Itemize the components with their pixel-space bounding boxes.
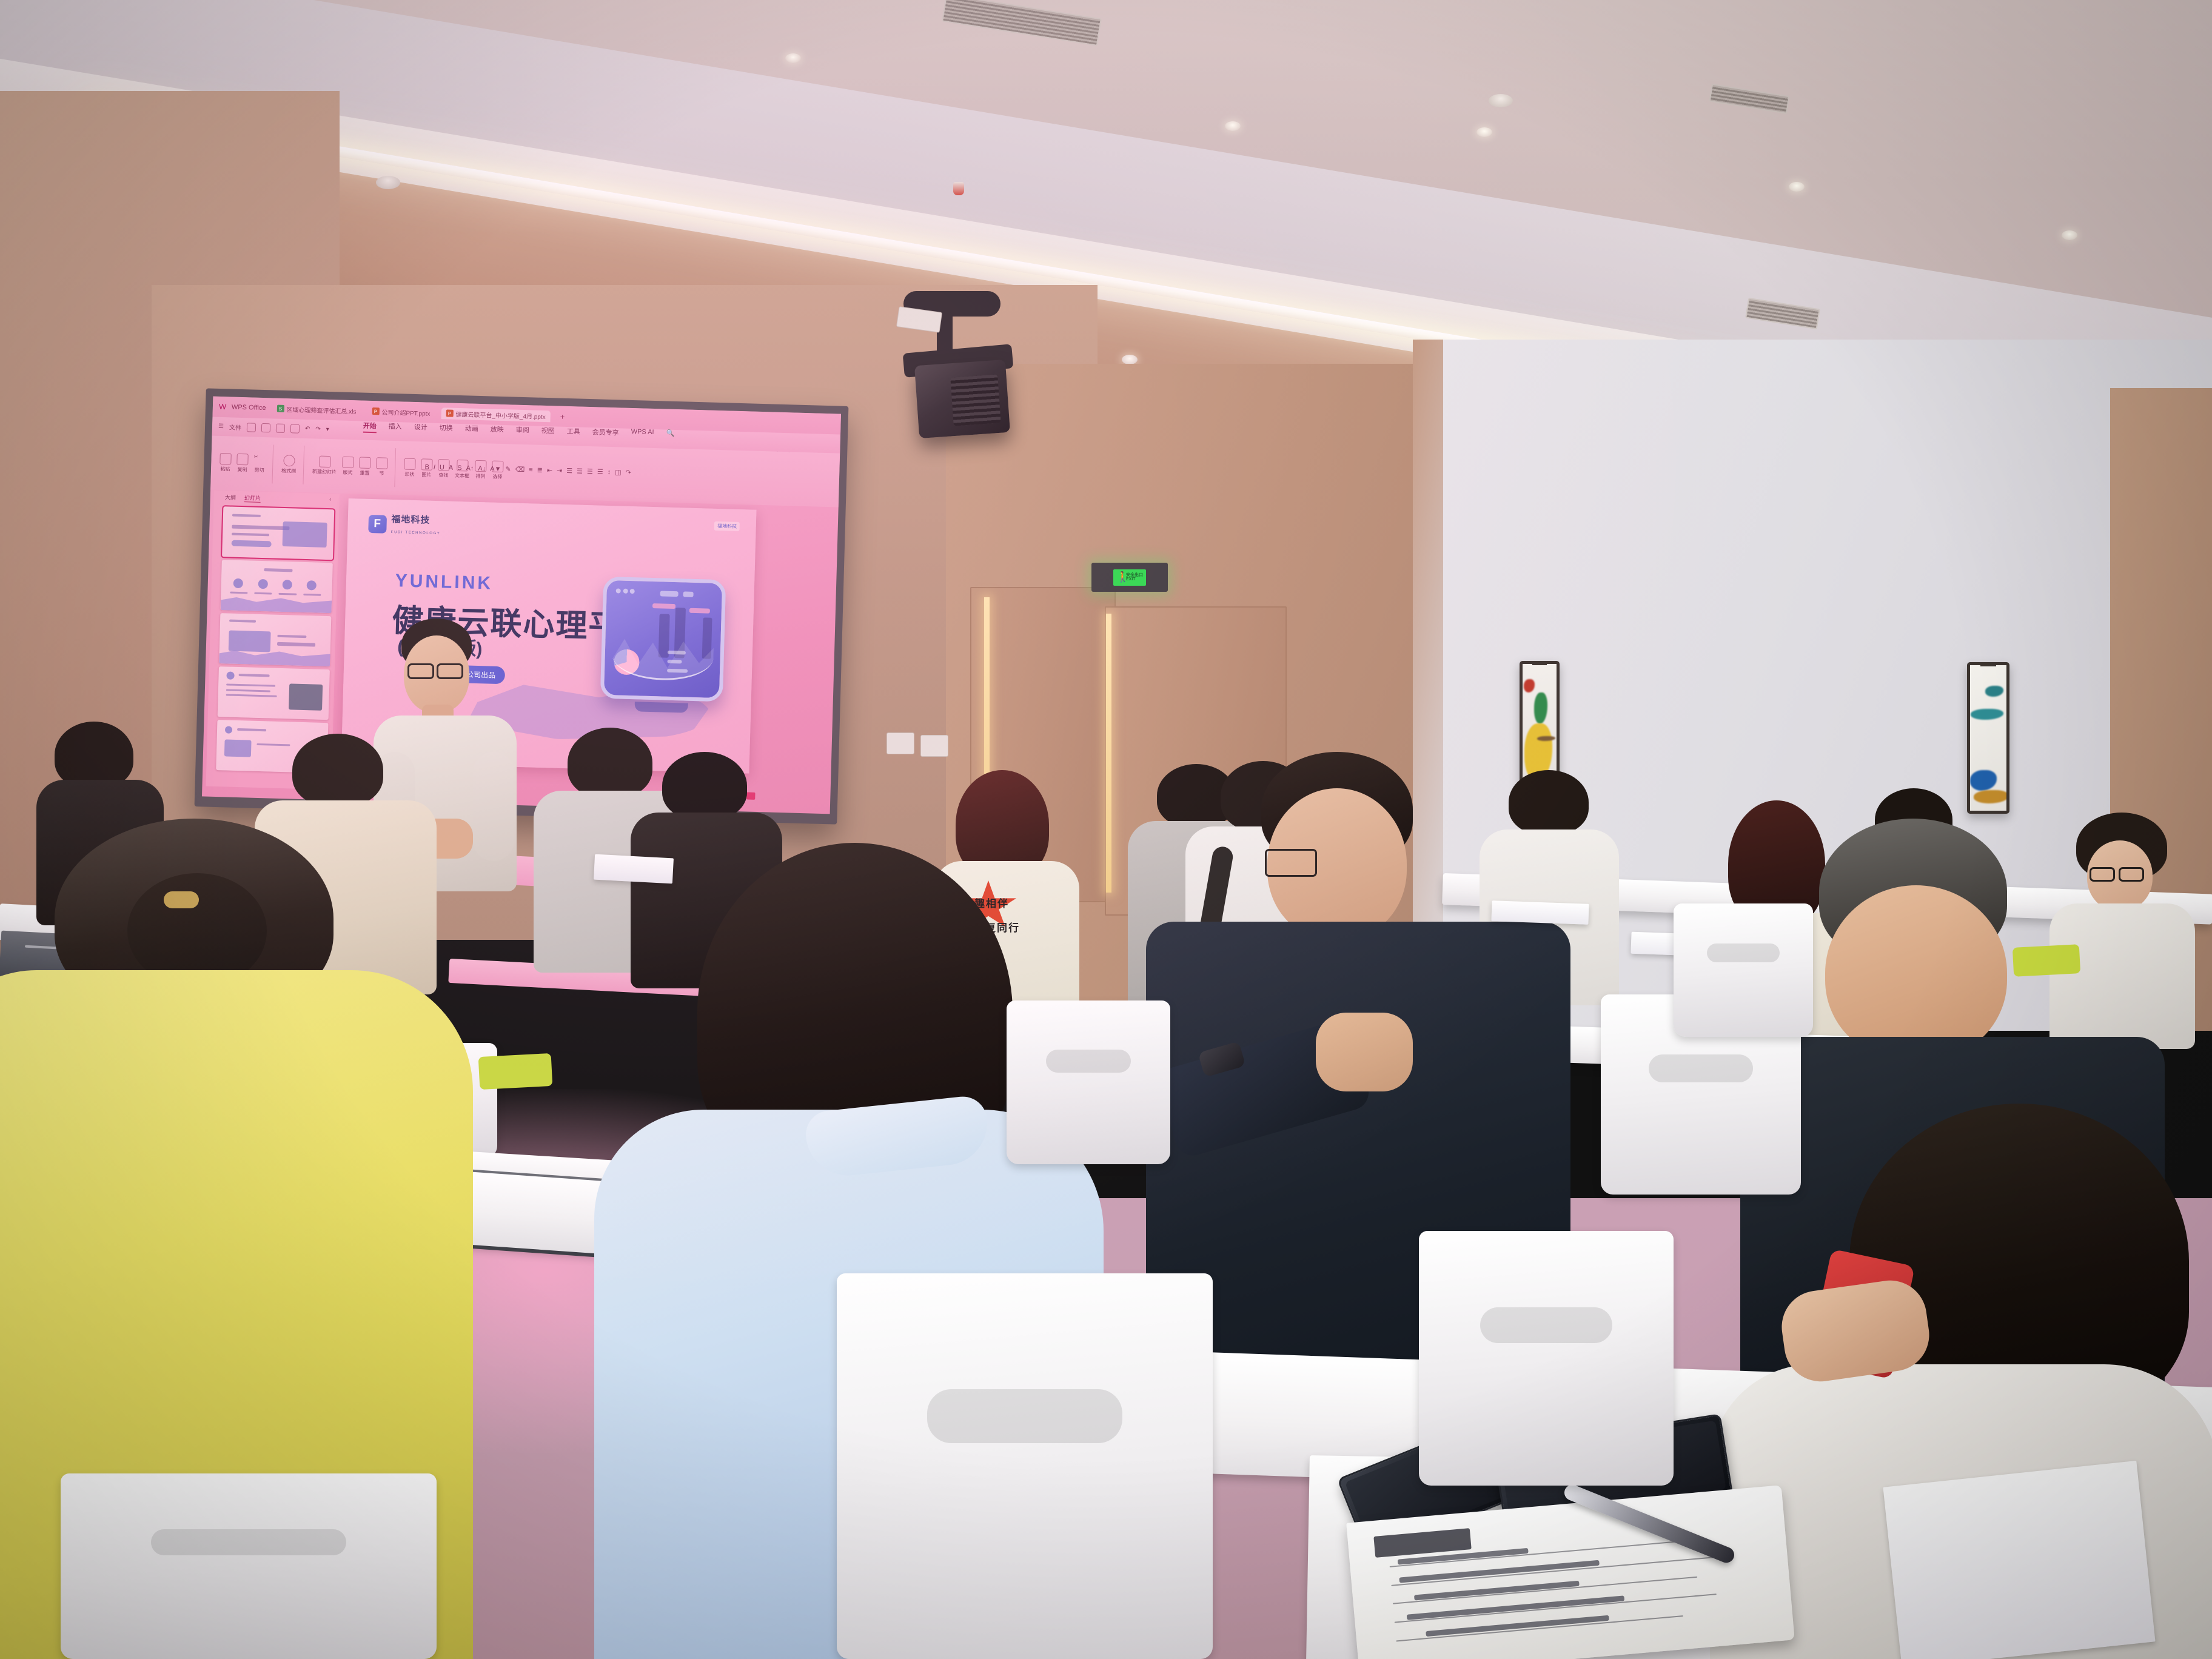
eyeglasses-icon — [407, 663, 434, 679]
slide-corner-watermark: 福地科技 — [714, 521, 740, 531]
text-direction-icon[interactable]: ↷ — [625, 469, 631, 477]
paste-icon — [220, 453, 232, 465]
arrange-label: 排列 — [475, 473, 485, 480]
find-label: 查找 — [438, 472, 448, 478]
chair-backrest — [837, 1273, 1213, 1659]
art-hanger — [1980, 662, 1996, 666]
wps-document-tab-1[interactable]: S 区域心理筛查评估汇总.xls — [272, 403, 361, 417]
shapes-label: 形状 — [404, 471, 414, 478]
wps-tab-label: 区域心理筛查评估汇总.xls — [286, 404, 356, 415]
ribbon-tab-member[interactable]: 会员专享 — [592, 427, 619, 440]
head — [1825, 885, 2007, 1061]
shapes-icon — [404, 458, 416, 471]
line-spacing-icon[interactable]: ↕ — [608, 469, 611, 476]
wps-tab-label: 公司介绍PPT.pptx — [381, 407, 430, 417]
new-tab-button[interactable]: + — [557, 412, 569, 421]
redo-icon[interactable]: ↷ — [315, 426, 321, 432]
slide-eyebrow-text: YUNLINK — [395, 571, 493, 594]
save-icon[interactable] — [247, 423, 256, 432]
exit-sign-label-en: EXIT — [1126, 577, 1143, 581]
presentation-icon: P — [372, 407, 379, 415]
recessed-downlight — [1789, 182, 1805, 192]
chair-front-center[interactable] — [837, 1273, 1213, 1659]
hvac-vent — [942, 0, 1102, 46]
new-slide-button[interactable]: 新建幻灯片 — [312, 455, 337, 475]
handwritten-note-line — [1426, 1615, 1609, 1637]
recessed-downlight — [785, 53, 801, 63]
chair-right-1[interactable] — [1419, 1231, 1674, 1486]
running-man-icon: 🚶 — [1116, 571, 1124, 584]
section-label: 节 — [379, 471, 384, 477]
ribbon-group-clipboard: 粘贴 复制 ✂ 剪切 — [219, 443, 273, 484]
align-left-icon[interactable]: ☰ — [566, 467, 572, 475]
new-slide-icon — [319, 456, 331, 468]
chair-handle-slot — [151, 1529, 346, 1555]
chair-backrest — [1419, 1231, 1674, 1486]
wps-tab-label: 健康云联平台_中小学版_4月.pptx — [455, 409, 546, 421]
hair — [662, 752, 747, 820]
classroom-photo-scene: 🚶 安全出口 EXIT W WPS Office — [0, 0, 2212, 1659]
indent-left-icon[interactable]: ⇤ — [547, 466, 553, 474]
cut-button[interactable]: ✂ 剪切 — [253, 454, 266, 474]
reset-button[interactable]: 重置 — [359, 457, 371, 477]
layout-icon — [342, 457, 354, 469]
format-painter-icon — [283, 455, 295, 467]
copy-icon — [236, 454, 249, 466]
numbering-icon[interactable]: ≣ — [537, 466, 543, 474]
file-menu-button[interactable]: 文件 — [229, 422, 241, 432]
chair-handle-slot — [1649, 1054, 1753, 1082]
highlight-icon[interactable]: ✎ — [505, 465, 511, 473]
art-brush-green — [1534, 692, 1547, 724]
recessed-downlight — [1122, 355, 1138, 364]
copy-label: 复制 — [237, 466, 247, 473]
wps-app-name: WPS Office — [232, 404, 266, 412]
door-light-gap-right — [1106, 614, 1111, 893]
art-brush-brown — [1537, 736, 1555, 741]
exit-sign-green-panel: 🚶 安全出口 EXIT — [1113, 569, 1146, 586]
monitor-stand — [635, 702, 688, 712]
ribbon-tab-home[interactable]: 开始 — [363, 421, 377, 434]
format-painter-label: 格式刷 — [281, 468, 296, 475]
ribbon-group-slides: 新建幻灯片 版式 重置 节 — [312, 446, 396, 487]
select-label: 选择 — [492, 474, 502, 480]
ribbon-tab-animation[interactable]: 动画 — [464, 423, 478, 436]
ribbon-group-format-painter: 格式刷 — [281, 445, 304, 484]
notebook-photo-block — [1373, 1528, 1471, 1558]
smoke-detector — [1489, 94, 1513, 107]
align-center-icon[interactable]: ☰ — [577, 468, 583, 475]
hamburger-icon[interactable]: ☰ — [218, 423, 224, 430]
art-brush-blue-wave — [1970, 770, 1997, 791]
recessed-downlight — [1476, 127, 1492, 137]
font-shrink-icon[interactable]: A↓ — [478, 465, 486, 472]
indent-right-icon[interactable]: ⇥ — [557, 467, 563, 475]
strikethrough-icon[interactable]: A — [449, 464, 454, 471]
chevron-left-icon[interactable]: ‹ — [329, 496, 340, 504]
chair-backrest — [61, 1473, 437, 1659]
fudi-logo-icon: F — [368, 515, 387, 534]
wps-ai-button[interactable]: WPS AI — [631, 428, 654, 441]
font-grow-icon[interactable]: A↑ — [466, 464, 474, 472]
eyeglasses-icon — [1265, 849, 1317, 877]
cut-icon: ✂ — [253, 454, 266, 466]
lock-icon[interactable] — [290, 424, 300, 433]
align-right-icon[interactable]: ☰ — [587, 468, 593, 475]
wps-logo: W WPS Office — [219, 402, 266, 413]
spreadsheet-icon: S — [276, 405, 284, 412]
hair — [292, 734, 383, 806]
ribbon-tab-design[interactable]: 设计 — [414, 422, 427, 435]
layout-label: 版式 — [343, 469, 352, 476]
documents-on-back-table — [1491, 900, 1589, 925]
paste-label: 粘贴 — [220, 466, 230, 472]
format-painter-button[interactable]: 格式刷 — [281, 455, 297, 475]
wps-document-tab-3[interactable]: P 健康云联平台_中小学版_4月.pptx — [441, 407, 551, 422]
chair-handle-slot — [927, 1389, 1122, 1443]
slide-thumbnail-4[interactable]: 4 — [218, 666, 330, 720]
handwritten-note-line — [1414, 1581, 1580, 1601]
slide-thumbnail-1[interactable]: 1 — [222, 506, 334, 560]
wall-switch-panel[interactable] — [886, 732, 914, 754]
hand — [1316, 1013, 1413, 1091]
reset-icon — [359, 457, 371, 469]
presentation-icon: P — [446, 410, 453, 417]
exit-sign-label-cn: 安全出口 — [1126, 573, 1143, 577]
stacked-documents[interactable] — [1883, 1461, 2155, 1659]
chair-handle-slot — [1480, 1307, 1612, 1343]
ribbon-tab-insert[interactable]: 插入 — [388, 421, 402, 434]
art-brush-teal-hill — [1971, 709, 2003, 720]
section-icon — [376, 457, 388, 469]
thumbnail-panel-tabs: 大纲 幻灯片 ‹ — [214, 491, 340, 507]
smoke-detector — [376, 176, 400, 189]
chair-front-left[interactable] — [61, 1473, 437, 1659]
emergency-exit-sign: 🚶 安全出口 EXIT — [1091, 563, 1168, 592]
projector-vent-grille — [950, 374, 1000, 426]
art-hanger — [1532, 661, 1547, 665]
bullets-icon[interactable]: ≡ — [529, 466, 533, 474]
ribbon-tab-review[interactable]: 审阅 — [515, 425, 529, 438]
ribbon-tab-tools[interactable]: 工具 — [566, 426, 580, 439]
chair-handle-slot — [1046, 1050, 1131, 1073]
tab-outline[interactable]: 大纲 — [225, 493, 236, 501]
recessed-downlight — [1225, 121, 1241, 131]
recessed-downlight — [2062, 230, 2077, 240]
ribbon-tab-slideshow[interactable]: 放映 — [490, 424, 504, 437]
underline-icon[interactable]: U — [440, 464, 444, 471]
cut-label: 剪切 — [254, 467, 264, 474]
undo-icon[interactable]: ↶ — [305, 426, 310, 432]
reset-label: 重置 — [360, 470, 369, 477]
chair-handle-slot — [1707, 943, 1780, 962]
wps-document-tab-2[interactable]: P 公司介绍PPT.pptx — [367, 405, 435, 418]
slide-thumbnail-3[interactable]: 3 — [219, 613, 331, 666]
textbox-label: 文本框 — [455, 472, 469, 480]
art-brush-teal-bird — [1985, 686, 2003, 697]
eyeglasses-icon — [437, 663, 463, 679]
documents-on-back-table — [594, 854, 674, 884]
art-brush-red — [1524, 679, 1535, 692]
company-name-en: FUDI TECHNOLOGY — [391, 531, 441, 535]
new-slide-label: 新建幻灯片 — [312, 468, 337, 475]
dashboard-monitor-illustration — [600, 577, 726, 702]
justify-icon[interactable]: ☰ — [597, 468, 603, 476]
italic-icon[interactable]: I — [434, 464, 435, 471]
columns-icon[interactable]: ◫ — [615, 469, 622, 477]
chair-backrest — [1674, 903, 1813, 1037]
print-preview-icon[interactable] — [261, 423, 270, 432]
slide-thumbnail-2[interactable]: 2 — [221, 560, 333, 613]
shadow-icon[interactable]: S — [457, 464, 462, 472]
ribbon-tab-view[interactable]: 视图 — [541, 426, 555, 438]
wall-socket-panel[interactable] — [920, 735, 948, 757]
wps-logo-icon: W — [219, 402, 229, 412]
section-button[interactable]: 节 — [376, 457, 388, 477]
chair-mid-center[interactable] — [1007, 1000, 1170, 1164]
picture-label: 图片 — [421, 472, 431, 478]
dropdown-icon[interactable]: ▾ — [326, 426, 329, 433]
hair-tie — [164, 891, 199, 908]
ribbon-tab-transition[interactable]: 切换 — [439, 423, 453, 435]
hvac-vent — [1709, 84, 1789, 114]
tab-slides[interactable]: 幻灯片 — [244, 494, 261, 503]
company-name-cn: 福地科技 — [391, 514, 430, 526]
clear-format-icon[interactable]: ⌫ — [515, 466, 525, 474]
slide-company-logo: F 福地科技 FUDI TECHNOLOGY — [368, 512, 441, 537]
paste-button[interactable]: 粘贴 — [220, 453, 232, 473]
font-color-icon[interactable]: A▼ — [490, 465, 501, 473]
copy-button[interactable]: 复制 — [236, 454, 249, 474]
print-icon[interactable] — [276, 424, 285, 433]
search-icon[interactable]: 🔍 — [666, 429, 674, 441]
hair — [55, 722, 133, 788]
chair-mid-right[interactable] — [1674, 903, 1813, 1037]
layout-button[interactable]: 版式 — [342, 457, 354, 477]
sprinkler-head — [953, 182, 964, 195]
chair-backrest — [1007, 1000, 1170, 1164]
shapes-button[interactable]: 形状 — [404, 458, 416, 478]
bold-icon[interactable]: B — [424, 463, 429, 471]
